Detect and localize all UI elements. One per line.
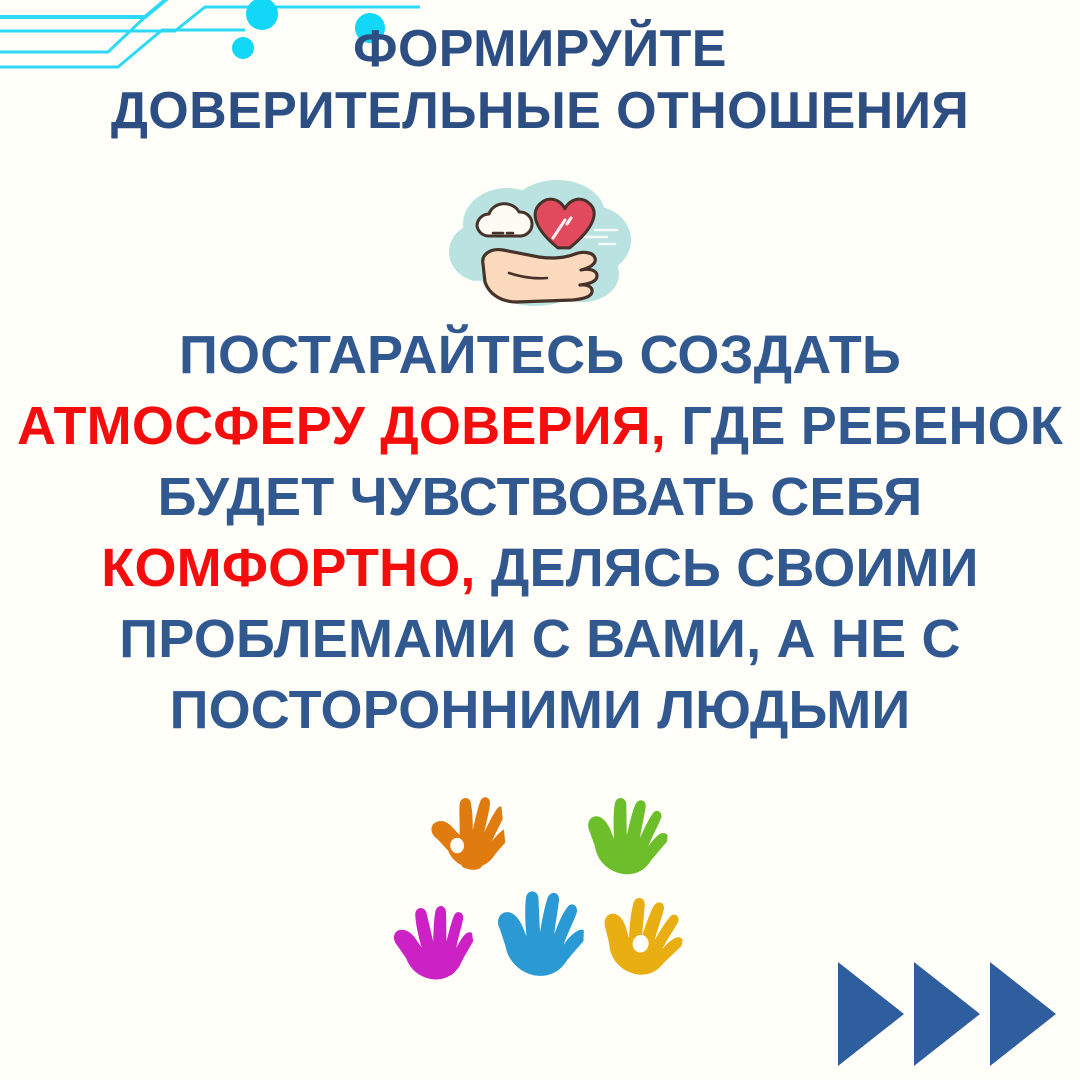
body-text-segment: ПОСТОРОННИМИ ЛЮДЬМИ xyxy=(170,680,911,740)
handprint-magenta xyxy=(378,882,479,989)
next-slide-arrows[interactable] xyxy=(838,958,1066,1070)
slide-canvas: ФОРМИРУЙТЕ ДОВЕРИТЕЛЬНЫЕ ОТНОШЕНИЯ xyxy=(0,0,1080,1080)
body-line-1: ПОСТАРАЙТЕСЬ СОЗДАТЬ xyxy=(0,320,1080,391)
handprint-gold xyxy=(584,871,692,985)
body-text-segment: ГДЕ РЕБЕНОК xyxy=(666,396,1063,456)
body-highlight: АТМОСФЕРУ ДОВЕРИЯ, xyxy=(17,396,666,456)
body-text-segment: ДЕЛЯСЬ СВОИМИ xyxy=(476,538,979,598)
body-line-3: БУДЕТ ЧУВСТВОВАТЬ СЕБЯ xyxy=(0,462,1080,533)
handprint-blue xyxy=(482,868,586,979)
title-line-2: ДОВЕРИТЕЛЬНЫЕ ОТНОШЕНИЯ xyxy=(0,80,1080,142)
body-line-5: ПРОБЛЕМАМИ С ВАМИ, А НЕ С xyxy=(0,604,1080,675)
body-text-segment: ПОСТАРАЙТЕСЬ СОЗДАТЬ xyxy=(179,325,901,385)
handprint-green xyxy=(573,775,672,881)
body-text-segment: ПРОБЛЕМАМИ С ВАМИ, А НЕ С xyxy=(119,609,960,669)
page-title: ФОРМИРУЙТЕ ДОВЕРИТЕЛЬНЫЕ ОТНОШЕНИЯ xyxy=(0,18,1080,142)
hand-holding-heart-icon xyxy=(447,178,633,310)
handprints-group xyxy=(380,770,700,990)
body-text-segment: БУДЕТ ЧУВСТВОВАТЬ СЕБЯ xyxy=(158,467,923,527)
arrow-right-icon-2[interactable] xyxy=(914,962,980,1066)
arrow-right-icon-3[interactable] xyxy=(990,962,1056,1066)
title-line-1: ФОРМИРУЙТЕ xyxy=(0,18,1080,80)
body-line-2: АТМОСФЕРУ ДОВЕРИЯ, ГДЕ РЕБЕНОК xyxy=(0,391,1080,462)
body-line-6: ПОСТОРОННИМИ ЛЮДЬМИ xyxy=(0,675,1080,746)
body-line-4: КОМФОРТНО, ДЕЛЯСЬ СВОИМИ xyxy=(0,533,1080,604)
body-text: ПОСТАРАЙТЕСЬ СОЗДАТЬАТМОСФЕРУ ДОВЕРИЯ, Г… xyxy=(0,320,1080,746)
handprint-orange xyxy=(414,784,509,882)
body-highlight: КОМФОРТНО, xyxy=(101,538,475,598)
arrow-right-icon-1[interactable] xyxy=(838,962,904,1066)
